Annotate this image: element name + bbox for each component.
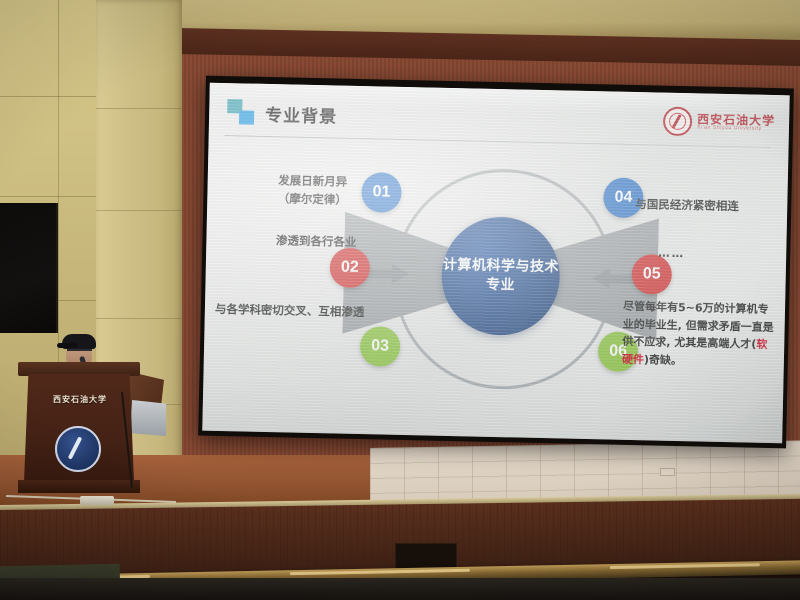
screen-surface: 专业背景 西安石油大学 Xi'an Shiyou University [202, 83, 789, 444]
badge-03: 03 [360, 326, 401, 367]
university-name-block: 西安石油大学 Xi'an Shiyou University [697, 113, 775, 133]
badge-04-number: 04 [614, 189, 632, 207]
radial-diagram: 计算机科学与技术专业 01 02 03 04 05 06 [333, 148, 668, 405]
speaker-cap [62, 334, 96, 349]
laptop-on-podium [130, 400, 166, 436]
badge-03-number: 03 [371, 337, 389, 355]
floor-socket-plate [660, 468, 675, 476]
item-03-label: 与各学科密切交叉、互相渗透 [215, 301, 375, 322]
projection-screen: 专业背景 西安石油大学 Xi'an Shiyou University [198, 76, 794, 449]
item-06-part1: 尽管每年有5~6万的计算机专业的毕业生, 但需求矛盾一直是供不应求, 尤其是高端… [622, 300, 774, 351]
item-06-label: 尽管每年有5~6万的计算机专业的毕业生, 但需求矛盾一直是供不应求, 尤其是高端… [622, 298, 775, 372]
badge-02-number: 02 [341, 259, 359, 277]
university-seal-icon [663, 107, 693, 137]
wall-monitor [0, 203, 58, 333]
item-05-label: …… [658, 245, 718, 264]
speaker-glasses [67, 349, 92, 356]
podium-base [18, 480, 140, 493]
two-squares-icon [227, 99, 256, 126]
lectern-podium: 西安石油大学 [18, 362, 140, 497]
podium-university-text: 西安石油大学 [34, 394, 126, 405]
slide-title-row: 专业背景 [227, 99, 338, 127]
badge-05-number: 05 [643, 265, 661, 283]
podium-top-surface [18, 362, 140, 376]
title-divider [225, 135, 771, 148]
presentation-slide: 专业背景 西安石油大学 Xi'an Shiyou University [202, 83, 789, 444]
item-02-label: 渗透到各行各业 [246, 232, 356, 252]
university-logo: 西安石油大学 Xi'an Shiyou University [663, 107, 776, 138]
university-name-en: Xi'an Shiyou University [697, 126, 775, 133]
page-title: 专业背景 [265, 100, 338, 127]
item-04-label: 与国民经济紧密相连 [635, 196, 775, 217]
podium-front-face: 西安石油大学 [24, 374, 134, 482]
center-text: 计算机科学与技术专业 [441, 256, 560, 296]
badge-01-number: 01 [372, 183, 390, 201]
lecture-hall-scene: 西安石油大学 专业背景 西安石油大学 [0, 0, 800, 600]
power-strip [80, 496, 114, 505]
foreground-dark-strip [0, 578, 800, 600]
university-crest-icon [55, 426, 101, 472]
item-01-label: 发展日新月异（摩尔定律） [257, 172, 368, 210]
item-06-part2: )奇缺。 [644, 353, 682, 367]
